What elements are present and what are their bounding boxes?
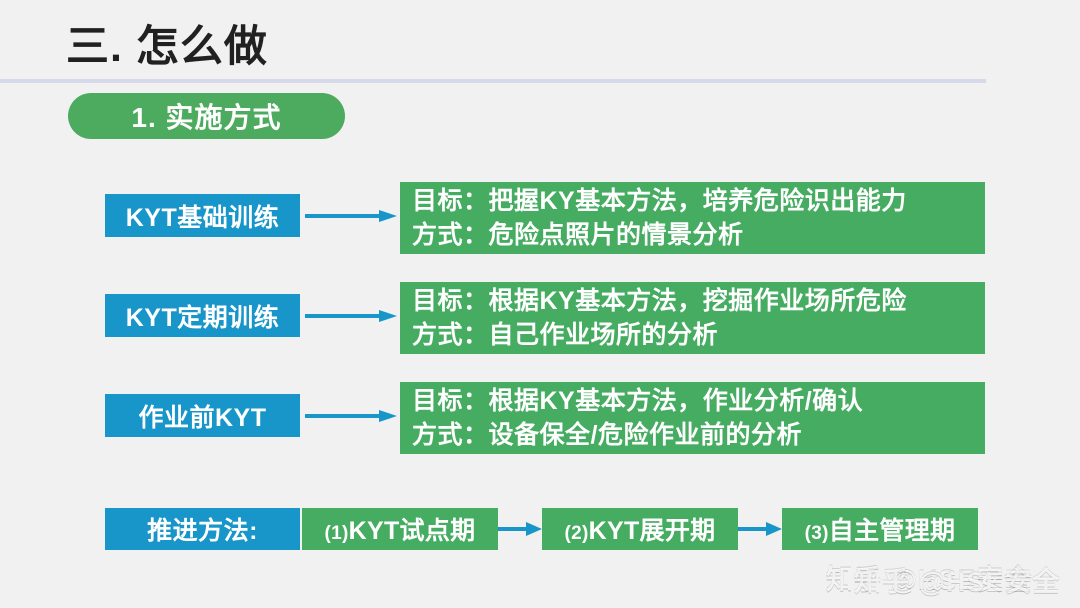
training-type-label: KYT基础训练 [126, 198, 280, 234]
promotion-flow-label: 推进方法: [147, 511, 258, 547]
training-type-tag: 作业前KYT [105, 394, 300, 437]
arrow-right-icon [305, 410, 397, 422]
training-detail-panel: 目标：根据KY基本方法，挖掘作业场所危险 方式：自己作业场所的分析 [400, 282, 985, 354]
training-method-text: 方式：自己作业场所的分析 [412, 318, 985, 352]
section-pill-label: 1. 实施方式 [131, 96, 281, 136]
training-goal-text: 目标：根据KY基本方法，作业分析/确认 [412, 384, 985, 418]
flow-step-2-index: (2) [565, 523, 589, 544]
watermark-text-secondary: 知乎 @HSE安全 [854, 560, 1060, 599]
flow-step-1-label: (1)KYT试点期 [325, 511, 476, 547]
flow-step-2-label: (2)KYT展开期 [565, 511, 716, 547]
flow-step-2: (2)KYT展开期 [542, 508, 738, 550]
flow-step-1-name: KYT试点期 [349, 517, 476, 545]
flow-step-3-name: 自主管理期 [829, 517, 956, 545]
flow-step-3: (3)自主管理期 [782, 508, 978, 550]
training-goal-text: 目标：根据KY基本方法，挖掘作业场所危险 [412, 284, 985, 318]
training-detail-panel: 目标：把握KY基本方法，培养危险识出能力 方式：危险点照片的情景分析 [400, 182, 985, 254]
header-divider [0, 79, 986, 83]
flow-step-3-label: (3)自主管理期 [805, 511, 956, 547]
arrow-right-icon [305, 210, 397, 222]
promotion-flow: 推进方法: (1)KYT试点期 (2)KYT展开期 (3)自主管理期 [0, 508, 1080, 552]
flow-step-1-index: (1) [325, 523, 349, 544]
watermark-text-primary: 知乎 @HSE安全 [826, 558, 1032, 597]
training-type-tag: KYT定期训练 [105, 294, 300, 337]
watermark: 知乎 @HSE安全 知乎 @HSE安全 [826, 558, 1076, 598]
training-type-label: 作业前KYT [138, 398, 266, 434]
arrow-right-icon [305, 310, 397, 322]
flow-step-3-index: (3) [805, 523, 829, 544]
slide: 三. 怎么做 1. 实施方式 KYT基础训练 目标：把握KY基本方法，培养危险识… [0, 0, 1080, 608]
training-detail-panel: 目标：根据KY基本方法，作业分析/确认 方式：设备保全/危险作业前的分析 [400, 382, 985, 454]
training-method-text: 方式：危险点照片的情景分析 [412, 218, 985, 252]
promotion-flow-tag: 推进方法: [105, 508, 300, 550]
arrow-right-icon [498, 522, 542, 536]
training-type-label: KYT定期训练 [126, 298, 280, 334]
training-type-tag: KYT基础训练 [105, 194, 300, 237]
arrow-right-icon [738, 522, 782, 536]
page-title: 三. 怎么做 [66, 12, 268, 74]
flow-step-1: (1)KYT试点期 [302, 508, 498, 550]
flow-step-2-name: KYT展开期 [589, 517, 716, 545]
training-goal-text: 目标：把握KY基本方法，培养危险识出能力 [412, 184, 985, 218]
training-method-text: 方式：设备保全/危险作业前的分析 [412, 418, 985, 452]
section-pill: 1. 实施方式 [68, 93, 345, 139]
